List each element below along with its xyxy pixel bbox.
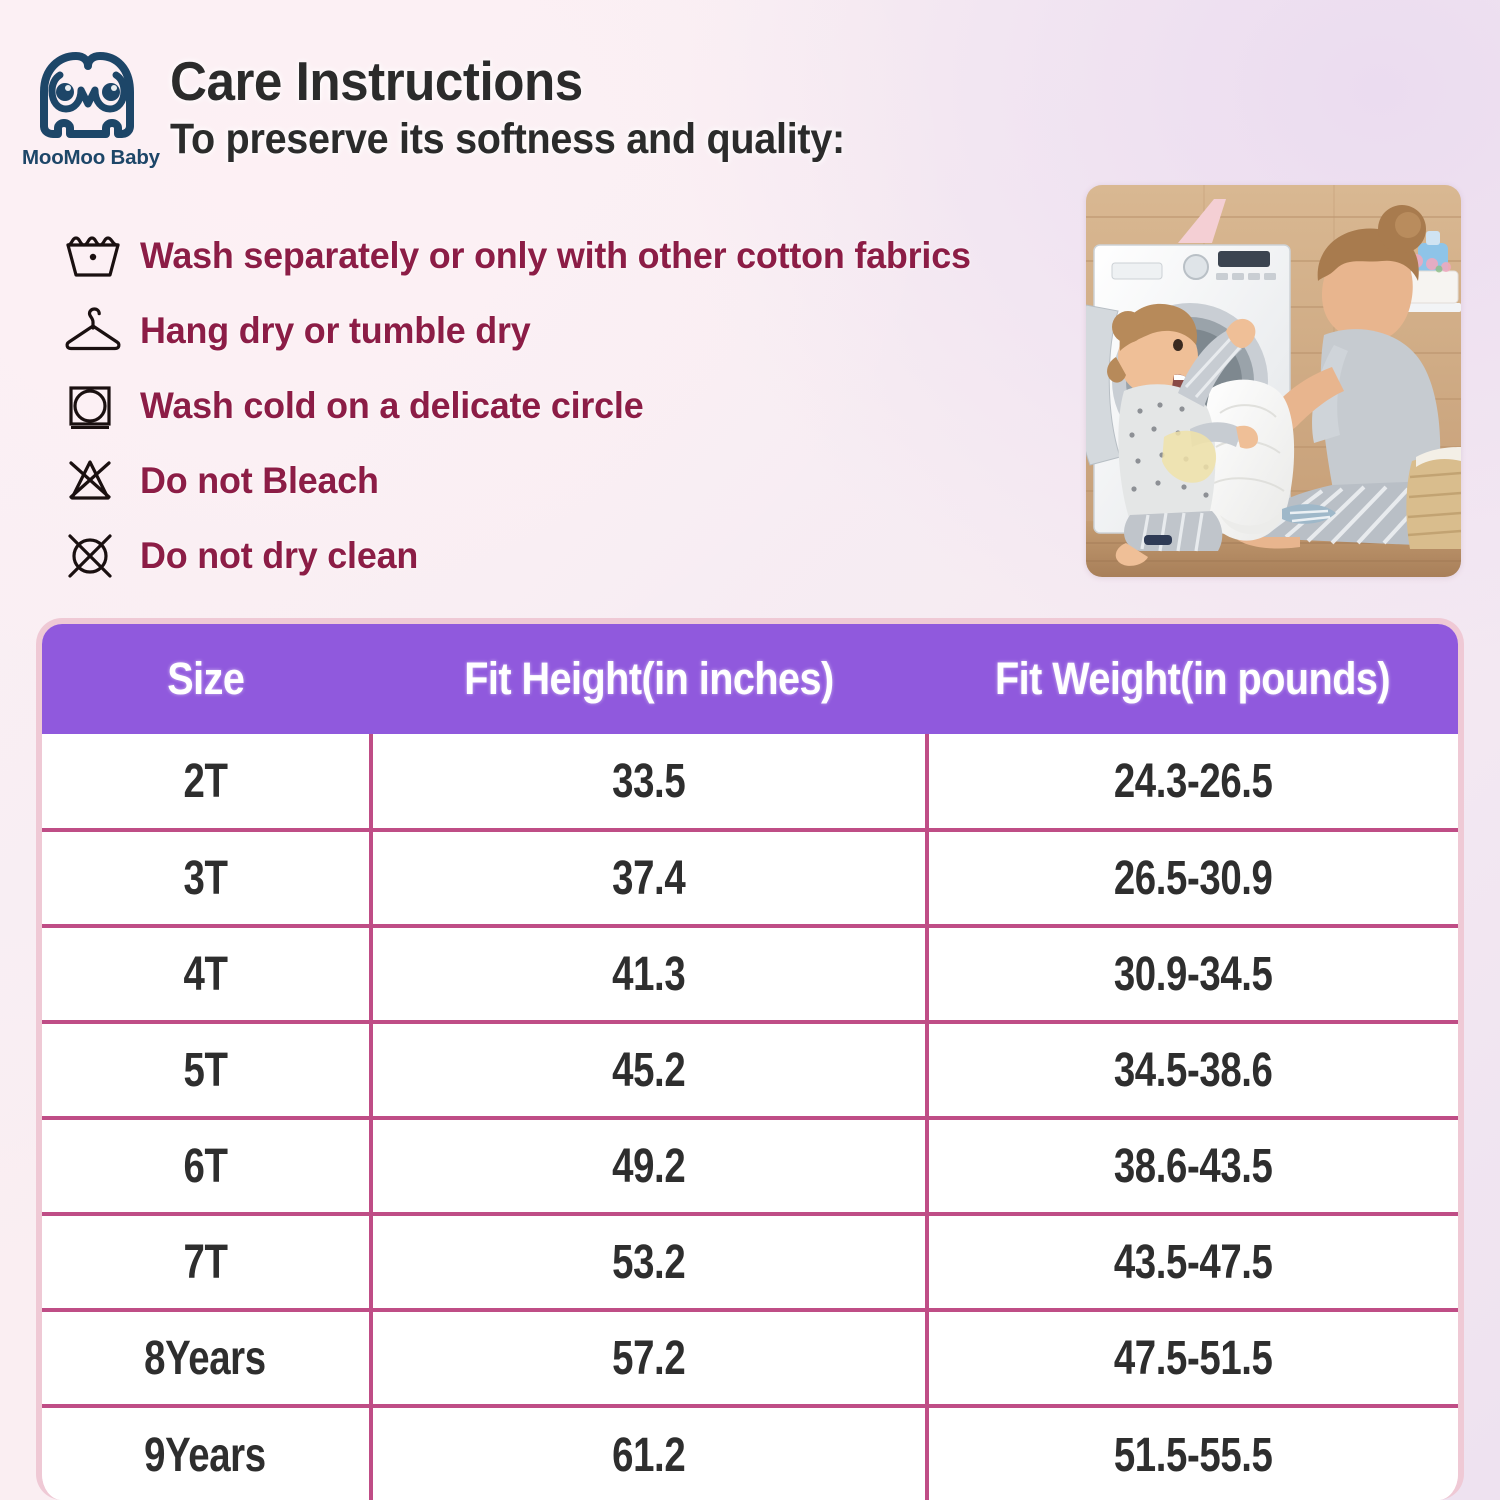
cell-weight: 24.3-26.5 bbox=[927, 734, 1458, 830]
care-item-no-bleach: Do not Bleach bbox=[62, 443, 1072, 518]
cell-height: 41.3 bbox=[371, 926, 927, 1022]
table-row: 8Years 57.2 47.5-51.5 bbox=[42, 1310, 1458, 1406]
title-block: Care Instructions To preserve its softne… bbox=[170, 54, 904, 161]
care-item-label: Hang dry or tumble dry bbox=[140, 310, 531, 352]
cell-weight: 26.5-30.9 bbox=[927, 830, 1458, 926]
column-header-size: Size bbox=[42, 624, 371, 734]
cell-size: 3T bbox=[42, 830, 371, 926]
cell-weight: 47.5-51.5 bbox=[927, 1310, 1458, 1406]
cell-size: 7T bbox=[42, 1214, 371, 1310]
care-item-label: Wash separately or only with other cotto… bbox=[140, 235, 971, 277]
cell-weight: 34.5-38.6 bbox=[927, 1022, 1458, 1118]
table-row: 4T 41.3 30.9-34.5 bbox=[42, 926, 1458, 1022]
laundry-photo bbox=[1086, 185, 1461, 577]
page-title: Care Instructions bbox=[170, 54, 852, 109]
care-instructions-list: Wash separately or only with other cotto… bbox=[62, 218, 1072, 593]
cell-height: 37.4 bbox=[371, 830, 927, 926]
care-item-label: Wash cold on a delicate circle bbox=[140, 385, 643, 427]
cell-height: 53.2 bbox=[371, 1214, 927, 1310]
cell-height: 57.2 bbox=[371, 1310, 927, 1406]
care-item-wash-separately: Wash separately or only with other cotto… bbox=[62, 218, 1072, 293]
care-item-wash-cold-delicate: Wash cold on a delicate circle bbox=[62, 368, 1072, 443]
page-header: MooMoo Baby Care Instructions To preserv… bbox=[0, 0, 1500, 190]
cell-size: 4T bbox=[42, 926, 371, 1022]
cell-weight: 30.9-34.5 bbox=[927, 926, 1458, 1022]
brand-logo: MooMoo Baby bbox=[22, 52, 154, 170]
page-subtitle: To preserve its softness and quality: bbox=[170, 118, 845, 161]
table-row: 9Years 61.2 51.5-55.5 bbox=[42, 1406, 1458, 1500]
table-header-row: Size Fit Height(in inches) Fit Weight(in… bbox=[42, 624, 1458, 734]
size-chart-table: Size Fit Height(in inches) Fit Weight(in… bbox=[36, 618, 1464, 1500]
no-dry-clean-icon bbox=[62, 525, 140, 587]
cell-height: 33.5 bbox=[371, 734, 927, 830]
table-row: 2T 33.5 24.3-26.5 bbox=[42, 734, 1458, 830]
care-item-label: Do not dry clean bbox=[140, 535, 418, 577]
no-bleach-icon bbox=[62, 450, 140, 512]
table-row: 7T 53.2 43.5-47.5 bbox=[42, 1214, 1458, 1310]
care-item-hang-dry: Hang dry or tumble dry bbox=[62, 293, 1072, 368]
cell-weight: 51.5-55.5 bbox=[927, 1406, 1458, 1500]
owl-logo-icon bbox=[34, 52, 142, 144]
table-row: 3T 37.4 26.5-30.9 bbox=[42, 830, 1458, 926]
cell-weight: 38.6-43.5 bbox=[927, 1118, 1458, 1214]
wash-tub-icon bbox=[62, 225, 140, 287]
table-row: 6T 49.2 38.6-43.5 bbox=[42, 1118, 1458, 1214]
cell-height: 61.2 bbox=[371, 1406, 927, 1500]
brand-wordmark: MooMoo Baby bbox=[22, 146, 154, 170]
hanger-icon bbox=[62, 300, 140, 362]
cell-height: 49.2 bbox=[371, 1118, 927, 1214]
laundry-photo-illustration bbox=[1086, 185, 1461, 577]
cell-weight: 43.5-47.5 bbox=[927, 1214, 1458, 1310]
cell-size: 8Years bbox=[42, 1310, 371, 1406]
column-header-fit-height: Fit Height(in inches) bbox=[371, 624, 927, 734]
care-item-no-dry-clean: Do not dry clean bbox=[62, 518, 1072, 593]
table-row: 5T 45.2 34.5-38.6 bbox=[42, 1022, 1458, 1118]
tumble-dry-icon bbox=[62, 375, 140, 437]
cell-size: 9Years bbox=[42, 1406, 371, 1500]
column-header-fit-weight: Fit Weight(in pounds) bbox=[927, 624, 1458, 734]
cell-height: 45.2 bbox=[371, 1022, 927, 1118]
care-instructions-page: MooMoo Baby Care Instructions To preserv… bbox=[0, 0, 1500, 1500]
care-item-label: Do not Bleach bbox=[140, 460, 379, 502]
cell-size: 5T bbox=[42, 1022, 371, 1118]
cell-size: 2T bbox=[42, 734, 371, 830]
cell-size: 6T bbox=[42, 1118, 371, 1214]
